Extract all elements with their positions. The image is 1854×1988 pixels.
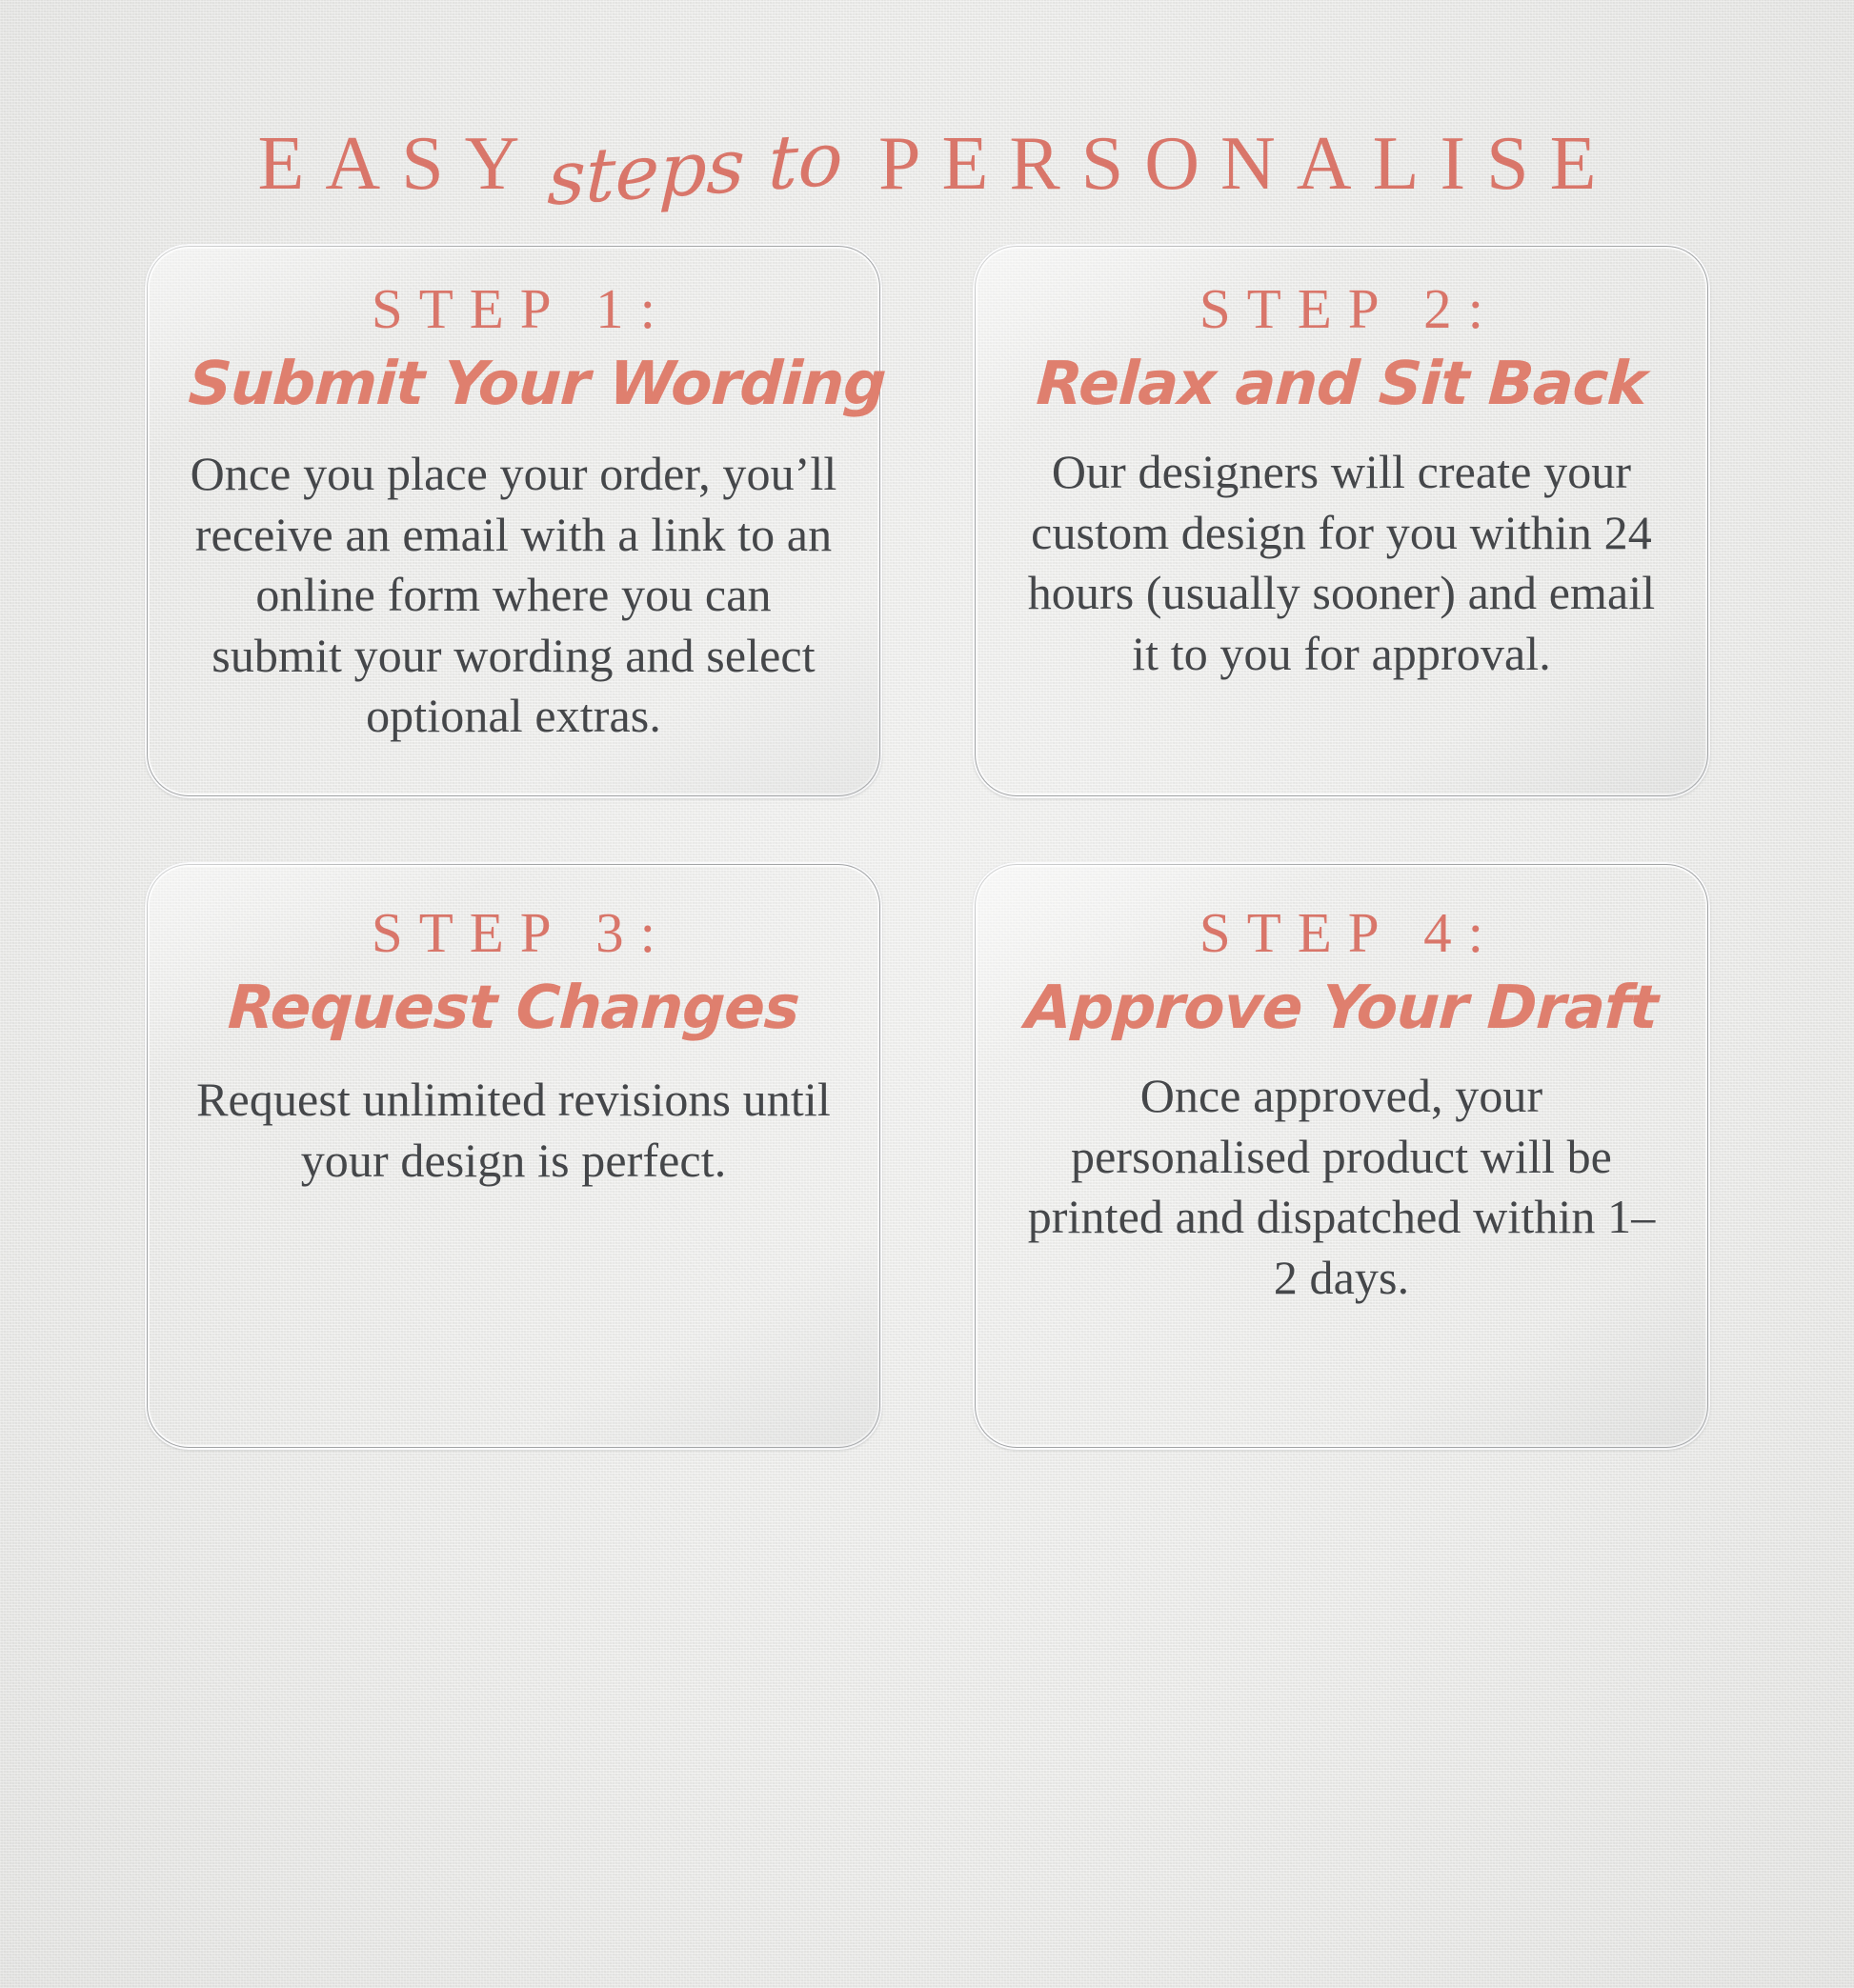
step-card-2[interactable]: STEP 2: Relax and Sit Back Our designers… [973, 244, 1710, 798]
step-card-3-content: STEP 3: Request Changes Request unlimite… [189, 862, 838, 1191]
title-script-steps-to: steps to [547, 122, 845, 217]
step-card-2-body: Our designers will create your custom de… [1017, 442, 1666, 684]
step-card-4[interactable]: STEP 4: Approve Your Draft Once approved… [973, 862, 1710, 1450]
page-root: EASYsteps toPERSONALISE STEP 1: Submit Y… [0, 0, 1854, 1988]
step-card-4-body: Once approved, your personalised product… [1017, 1066, 1666, 1308]
title-word-personalise: PERSONALISE [857, 126, 1617, 202]
step-card-3-body: Request unlimited revisions until your d… [189, 1070, 838, 1191]
step-card-3[interactable]: STEP 3: Request Changes Request unlimite… [145, 862, 882, 1450]
step-card-2-content: STEP 2: Relax and Sit Back Our designers… [1017, 244, 1666, 684]
step-card-4-content: STEP 4: Approve Your Draft Once approved… [1017, 862, 1666, 1308]
step-card-1-label: STEP 1: [189, 280, 838, 339]
step-card-4-label: STEP 4: [1017, 904, 1666, 963]
step-card-4-title: Approve Your Draft [1015, 976, 1667, 1039]
page-title: EASYsteps toPERSONALISE [0, 126, 1854, 202]
step-card-3-label: STEP 3: [189, 904, 838, 963]
step-card-1-body: Once you place your order, you’ll receiv… [189, 444, 838, 747]
step-card-1[interactable]: STEP 1: Submit Your Wording Once you pla… [145, 244, 882, 798]
step-card-1-title: Submit Your Wording [187, 352, 839, 415]
step-card-2-label: STEP 2: [1017, 280, 1666, 339]
step-card-3-title: Request Changes [187, 976, 839, 1039]
step-card-1-content: STEP 1: Submit Your Wording Once you pla… [189, 244, 838, 747]
step-card-2-title: Relax and Sit Back [1015, 352, 1667, 415]
title-word-easy: EASY [237, 126, 541, 202]
